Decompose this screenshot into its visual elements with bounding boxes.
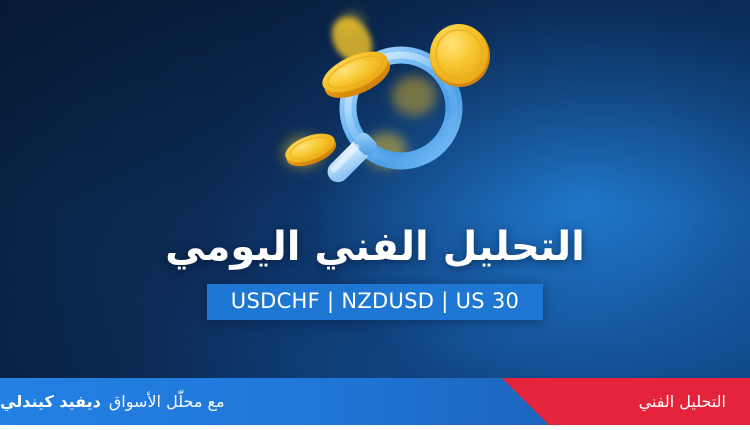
footer-presenter-prefix: مع محلّل الأسواق <box>109 392 225 411</box>
instrument-pairs-badge: USDCHF | NZDUSD | US 30 <box>207 284 543 320</box>
hero-illustration <box>268 0 518 215</box>
gold-coin-icon-blurred-inner <box>392 76 436 116</box>
gold-coin-icon-right <box>430 24 490 87</box>
technical-analysis-banner: التحليل الفني اليومي USDCHF | NZDUSD | U… <box>0 0 750 430</box>
footer-category-label: التحليل الفني <box>639 378 726 425</box>
footer-presenter: مع محلّل الأسواق ديفيد كيندلي <box>0 378 300 425</box>
footer-presenter-name: ديفيد كيندلي <box>0 392 101 411</box>
footer-bar: مع محلّل الأسواق ديفيد كيندلي التحليل ال… <box>0 378 750 425</box>
footer-white-strip <box>0 425 750 430</box>
pairs-badge-container: USDCHF | NZDUSD | US 30 <box>0 284 750 320</box>
page-title: التحليل الفني اليومي <box>0 224 750 270</box>
